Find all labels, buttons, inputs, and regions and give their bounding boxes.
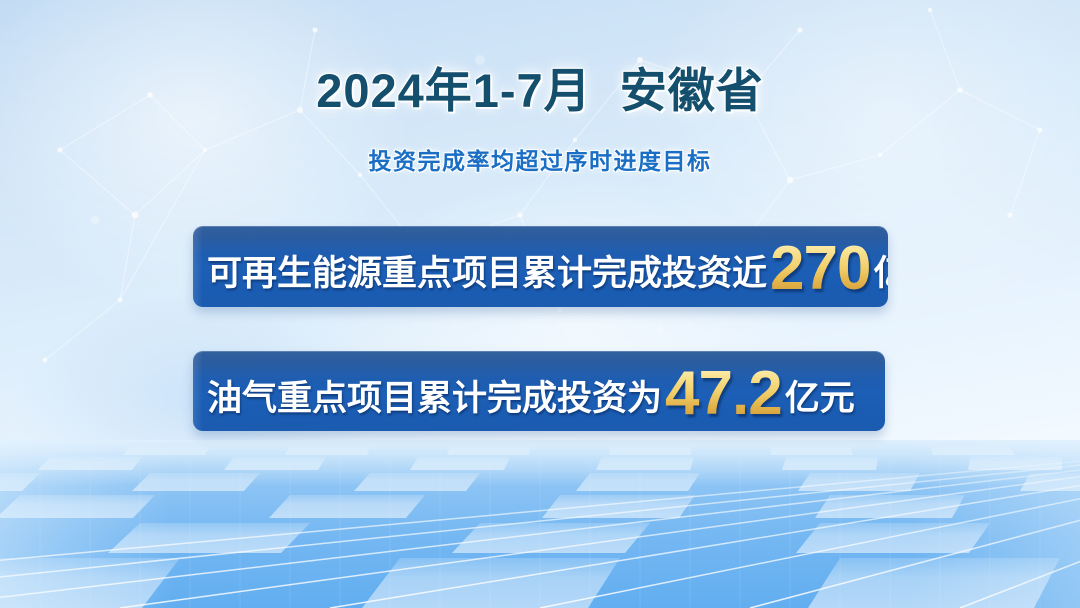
stat-banner-renewable-energy: 可再生能源重点项目累计完成投资近270亿元 (193, 226, 888, 307)
perspective-grid-floor (0, 440, 1080, 608)
banner-value-renewable: 270 (767, 241, 873, 297)
banner-value-oilgas: 47.2 (662, 366, 785, 422)
stat-banner-oil-and-gas: 油气重点项目累计完成投资为47.2亿元 (193, 351, 885, 431)
banner-text-oilgas: 油气重点项目累计完成投资为47.2亿元 (193, 362, 855, 421)
page-subtitle: 投资完成率均超过序时进度目标 (0, 118, 1080, 176)
banner-unit-oilgas: 亿元 (785, 370, 855, 421)
banner-prefix-renewable: 可再生能源重点项目累计完成投资近 (207, 245, 767, 296)
page-title: 2024年1-7月 安徽省 (0, 0, 1080, 118)
banner-prefix-oilgas: 油气重点项目累计完成投资为 (207, 370, 662, 421)
banner-text-renewable: 可再生能源重点项目累计完成投资近270亿元 (193, 237, 888, 296)
banner-unit-renewable: 亿元 (873, 245, 888, 296)
infographic-slide: 2024年1-7月 安徽省 投资完成率均超过序时进度目标 可再生能源重点项目累计… (0, 0, 1080, 608)
heading-block: 2024年1-7月 安徽省 投资完成率均超过序时进度目标 (0, 0, 1080, 176)
grid-floor-icon (0, 440, 1080, 608)
